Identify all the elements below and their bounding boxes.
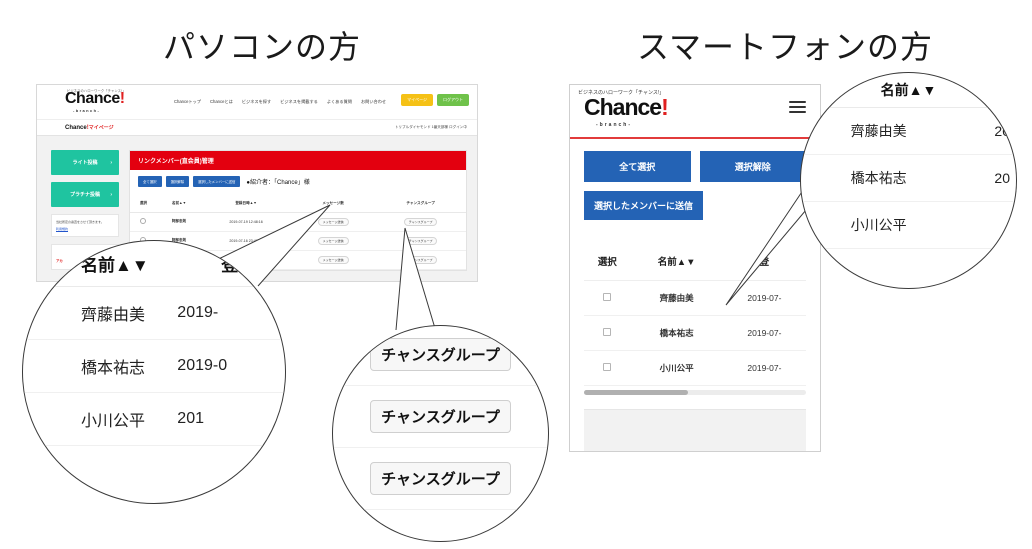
- mobile-brand-text: Chance: [584, 94, 661, 120]
- mobile-row-checkbox-cell[interactable]: [584, 316, 630, 351]
- mobile-body: 全て選択 選択解除 選択したメンバーに送信 選択 名前▲▼ 登 齊藤由: [570, 139, 820, 452]
- platinum-post-button[interactable]: プラチナ投稿 ›: [51, 182, 119, 207]
- mobile-deselect-button[interactable]: 選択解除: [700, 151, 807, 182]
- brand-logo: Chance!: [65, 91, 125, 107]
- callout-col-date: 登録日: [163, 241, 285, 287]
- callout-col-name: 名前▲▼: [23, 241, 163, 287]
- callout-name: 齊藤由美: [801, 108, 956, 155]
- mypage-breadcrumb: Chance!マイページ: [65, 124, 114, 131]
- mobile-col-name[interactable]: 名前▲▼: [630, 242, 722, 281]
- mobile-brand-mark: !: [661, 94, 668, 120]
- callout-desktop-group-column: チャンスグループ チャンスグループ チャンスグループ: [332, 325, 549, 542]
- callout-mobile-name-column: 名前▲▼ 齊藤由美 20 橋本祐志 20 小川公平: [800, 72, 1017, 289]
- nav-item-faq[interactable]: よくある質問: [327, 99, 352, 105]
- nav-item-contact[interactable]: お問い合わせ: [361, 99, 386, 105]
- brand-logo-subtitle: -branch-: [73, 108, 100, 113]
- callout-row: 齊藤由美 2019-: [23, 287, 285, 340]
- table-row: 小川公平 2019-07-: [584, 351, 806, 386]
- row-message-cell: メッセージ送信: [291, 212, 375, 231]
- nav-item-post-business[interactable]: ビジネスを掲載する: [280, 99, 318, 105]
- callout-date: [956, 202, 1016, 249]
- callout-row: 齊藤由美 20: [801, 108, 1016, 155]
- callout-name: 橋本祐志: [801, 155, 956, 202]
- mobile-brand-subtitle: -branch-: [596, 122, 632, 128]
- mobile-button-row-2: 選択したメンバーに送信: [584, 191, 806, 220]
- mobile-members-table: 選択 名前▲▼ 登 齊藤由美 2019-07- 橋本祐志 2019-07-: [584, 242, 806, 386]
- light-post-button[interactable]: ライト投稿 ›: [51, 150, 119, 175]
- select-all-button[interactable]: 全て選択: [138, 176, 162, 187]
- nav-item-search-business[interactable]: ビジネスを探す: [242, 99, 271, 105]
- mobile-col-select[interactable]: 選択: [584, 242, 630, 281]
- mobile-row-date: 2019-07-: [723, 281, 806, 316]
- nav-item-top[interactable]: Chanceトップ: [174, 99, 201, 105]
- checkbox-icon[interactable]: [603, 328, 611, 336]
- callout-row: チャンスグループ: [333, 448, 548, 510]
- group-chip[interactable]: チャンスグループ: [370, 338, 511, 371]
- light-post-label: ライト投稿: [72, 160, 97, 166]
- brand-logo-mark: !: [120, 90, 125, 107]
- chevron-right-icon-2: ›: [110, 192, 112, 198]
- callout-pc-bottom-table: チャンスグループ チャンスグループ チャンスグループ: [333, 326, 548, 510]
- callout-date: 20: [956, 155, 1016, 202]
- callout-sp-right-table: 名前▲▼ 齊藤由美 20 橋本祐志 20 小川公平: [801, 73, 1016, 249]
- callout-date: 201: [163, 393, 285, 446]
- mobile-table-header-row: 選択 名前▲▼ 登: [584, 242, 806, 281]
- group-chip[interactable]: チャンスグループ: [370, 400, 511, 433]
- checkbox-icon[interactable]: [603, 363, 611, 371]
- header-action-buttons: マイページ ログアウト: [401, 94, 469, 106]
- group-chip[interactable]: チャンスグループ: [404, 256, 438, 264]
- callout-date: 2019-: [163, 287, 285, 340]
- radio-icon[interactable]: [140, 218, 146, 224]
- mobile-row-checkbox-cell[interactable]: [584, 351, 630, 386]
- group-chip[interactable]: チャンスグループ: [370, 462, 511, 495]
- callout-row: 小川公平: [801, 202, 1016, 249]
- table-row: 橋本祐志 2019-07-: [584, 316, 806, 351]
- sidebar-note-text: 当社所定の審査をさせて頂きます。: [56, 220, 104, 224]
- mobile-brand-logo: Chance!: [584, 96, 668, 119]
- mypage-button[interactable]: マイページ: [401, 94, 433, 106]
- row-checkbox-cell[interactable]: [130, 212, 157, 231]
- table-row: 齊藤由美 2019-07-: [584, 281, 806, 316]
- row-message-cell: メッセージ送信: [291, 250, 375, 269]
- callout-row: チャンスグループ: [333, 386, 548, 448]
- row-group-cell: チャンスグループ: [375, 212, 466, 231]
- page-canvas: パソコンの方 スマートフォンの方 ビジネスのハローワーク「チャンス!」 Chan…: [0, 0, 1032, 549]
- col-registered-at[interactable]: 登録日時▲▼: [201, 195, 291, 212]
- message-chip[interactable]: メッセージ送信: [318, 256, 349, 264]
- callout-header-row: 名前▲▼ 登録日: [23, 241, 285, 287]
- mobile-send-to-selected-button[interactable]: 選択したメンバーに送信: [584, 191, 703, 220]
- callout-desktop-name-column: 名前▲▼ 登録日 齊藤由美 2019- 橋本祐志 2019-0 小川公平: [22, 240, 286, 504]
- checkbox-icon[interactable]: [603, 293, 611, 301]
- message-chip[interactable]: メッセージ送信: [318, 237, 349, 245]
- mobile-row-name: 齊藤由美: [630, 281, 722, 316]
- main-nav: Chanceトップ Chanceとは ビジネスを探す ビジネスを掲載する よくあ…: [174, 99, 386, 105]
- group-chip[interactable]: チャンスグループ: [404, 237, 438, 245]
- callout-name: 小川公平: [801, 202, 956, 249]
- col-select[interactable]: 選択: [130, 195, 157, 212]
- nav-item-about[interactable]: Chanceとは: [210, 99, 233, 105]
- callout-mobile-col-name: 名前▲▼: [801, 73, 1016, 108]
- callout-pc-bottom-content: チャンスグループ チャンスグループ チャンスグループ: [333, 326, 548, 541]
- mobile-button-row-1: 全て選択 選択解除: [584, 151, 806, 182]
- mobile-row-checkbox-cell[interactable]: [584, 281, 630, 316]
- group-chip[interactable]: チャンスグループ: [404, 218, 438, 226]
- page-title-sp: スマートフォンの方: [637, 22, 933, 68]
- page-title-pc: パソコンの方: [163, 22, 361, 68]
- user-status-text: トリプルダイヤモンド 1番天部様 ログイン中: [395, 125, 467, 130]
- callout-sp-right-content: 名前▲▼ 齊藤由美 20 橋本祐志 20 小川公平: [801, 73, 1016, 288]
- desktop-subheader: Chance!マイページ トリプルダイヤモンド 1番天部様 ログイン中: [37, 119, 477, 136]
- platinum-post-label: プラチナ投稿: [70, 192, 100, 198]
- mobile-col-registered[interactable]: 登: [723, 242, 806, 281]
- callout-header-row: 名前▲▼: [801, 73, 1016, 108]
- sidebar-note: 当社所定の審査をさせて頂きます。 利用規約: [51, 214, 119, 237]
- deselect-button[interactable]: 選択解除: [166, 176, 190, 187]
- panel-action-row: 全て選択 選択解除 選択したメンバーに送信 ●紹介者：「Chance」様: [130, 170, 466, 191]
- mobile-row-date: 2019-07-: [723, 351, 806, 386]
- desktop-header: ビジネスのハローワーク「チャンス!」 Chance! -branch- Chan…: [37, 85, 477, 119]
- callout-row: 橋本祐志 20: [801, 155, 1016, 202]
- callout-row: チャンスグループ: [333, 326, 548, 386]
- referrer-text: ●紹介者：「Chance」様: [246, 177, 309, 186]
- brand-logo-text: Chance: [65, 90, 120, 107]
- mobile-screenshot: ビジネスのハローワーク「チャンス!」 Chance! -branch- 全て選択…: [569, 84, 821, 452]
- message-chip[interactable]: メッセージ送信: [318, 218, 349, 226]
- chevron-right-icon: ›: [110, 160, 112, 166]
- logout-button[interactable]: ログアウト: [437, 94, 469, 106]
- mypage-label: マイページ: [89, 125, 114, 131]
- callout-name: 齊藤由美: [23, 287, 163, 340]
- callout-name: 小川公平: [23, 393, 163, 446]
- callout-pc-left-table: 名前▲▼ 登録日 齊藤由美 2019- 橋本祐志 2019-0 小川公平: [23, 241, 285, 446]
- row-name: 阿部忠則: [157, 212, 201, 231]
- horizontal-scrollbar[interactable]: [584, 390, 806, 395]
- mobile-footer-area: [584, 409, 806, 452]
- mobile-row-date: 2019-07-: [723, 316, 806, 351]
- mobile-select-all-button[interactable]: 全て選択: [584, 151, 691, 182]
- row-group-cell: チャンスグループ: [375, 250, 466, 269]
- col-name[interactable]: 名前▲▼: [157, 195, 201, 212]
- callout-group-cell: チャンスグループ: [333, 386, 548, 448]
- mypage-brand: Chance: [65, 125, 87, 131]
- mobile-header: ビジネスのハローワーク「チャンス!」 Chance! -branch-: [570, 85, 820, 139]
- row-date: 2019-07-19 12:48:16: [201, 212, 291, 231]
- callout-pc-left-content: 名前▲▼ 登録日 齊藤由美 2019- 橋本祐志 2019-0 小川公平: [23, 241, 285, 503]
- callout-name: 橋本祐志: [23, 340, 163, 393]
- col-message-count[interactable]: メッセージ数: [291, 195, 375, 212]
- table-row: 阿部忠則 2019-07-19 12:48:16 メッセージ送信 チャンスグルー…: [130, 212, 466, 231]
- callout-group-cell: チャンスグループ: [333, 448, 548, 510]
- callout-row: 橋本祐志 2019-0: [23, 340, 285, 393]
- row-group-cell: チャンスグループ: [375, 231, 466, 250]
- send-to-selected-button[interactable]: 選択したメンバーに送信: [193, 176, 240, 187]
- callout-row: 小川公平 201: [23, 393, 285, 446]
- mobile-row-name: 橋本祐志: [630, 316, 722, 351]
- terms-link[interactable]: 利用規約: [56, 227, 114, 232]
- callout-date: 20: [956, 108, 1016, 155]
- col-chance-group[interactable]: チャンスグループ: [375, 195, 466, 212]
- members-table-header-row: 選択 名前▲▼ 登録日時▲▼ メッセージ数 チャンスグループ: [130, 195, 466, 212]
- callout-group-cell: チャンスグループ: [333, 326, 548, 386]
- scrollbar-thumb[interactable]: [584, 390, 688, 395]
- mobile-row-name: 小川公平: [630, 351, 722, 386]
- row-message-cell: メッセージ送信: [291, 231, 375, 250]
- callout-date: 2019-0: [163, 340, 285, 393]
- panel-title: リンクメンバー(直会員)管理: [130, 151, 466, 170]
